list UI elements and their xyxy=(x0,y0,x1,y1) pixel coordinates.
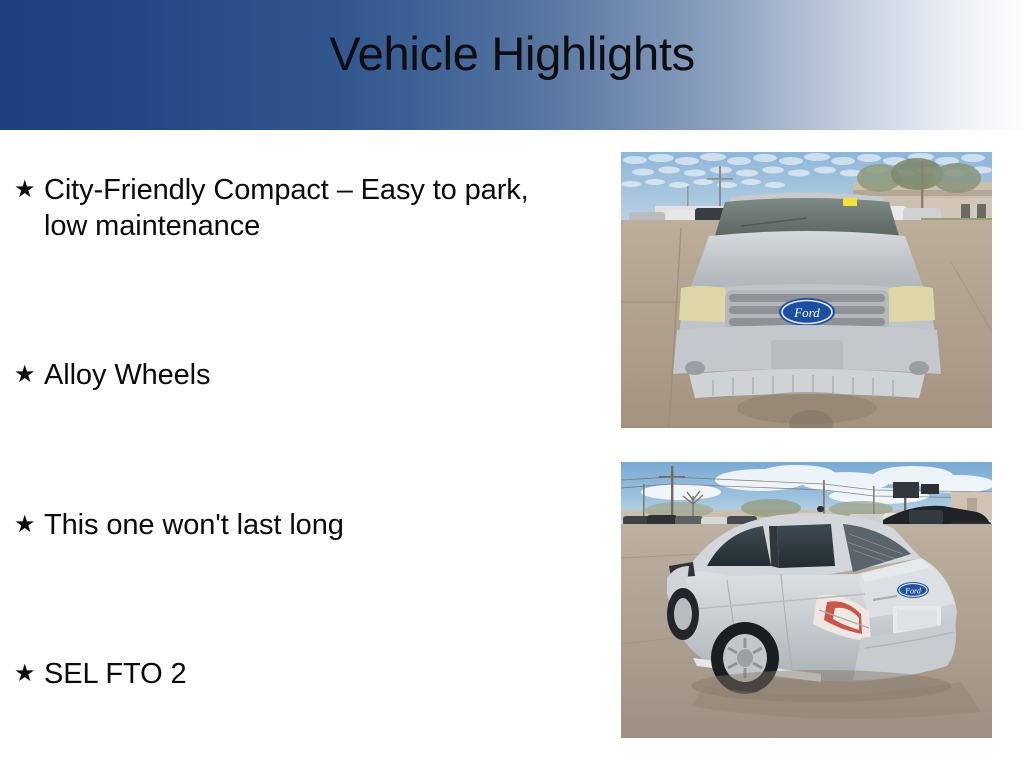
page-title: Vehicle Highlights xyxy=(0,0,1024,130)
vehicle-front-photo[interactable]: Ford xyxy=(621,152,992,428)
list-item[interactable]: ★ This one won't last long xyxy=(14,507,574,543)
list-item[interactable]: ★ Alloy Wheels xyxy=(14,357,574,393)
list-item[interactable]: ★ SEL FTO 2 xyxy=(14,656,574,692)
svg-text:Ford: Ford xyxy=(904,587,922,596)
star-bullet-icon: ★ xyxy=(14,172,44,208)
star-bullet-icon: ★ xyxy=(14,507,44,543)
svg-text:Ford: Ford xyxy=(793,305,820,320)
list-item-label: Alloy Wheels xyxy=(44,357,534,393)
star-bullet-icon: ★ xyxy=(14,357,44,393)
vehicle-rear-photo-graphic: Ford xyxy=(621,462,992,738)
list-item-label: This one won't last long xyxy=(44,507,534,543)
list-item-label: SEL FTO 2 xyxy=(44,656,534,692)
star-bullet-icon: ★ xyxy=(14,656,44,692)
vehicle-rear-photo[interactable]: Ford xyxy=(621,462,992,738)
slide-content: ★ City-Friendly Compact – Easy to park, … xyxy=(0,130,1024,768)
list-item[interactable]: ★ City-Friendly Compact – Easy to park, … xyxy=(14,172,574,244)
slide: Vehicle Highlights ★ City-Friendly Compa… xyxy=(0,0,1024,768)
list-item-label: City-Friendly Compact – Easy to park, lo… xyxy=(44,172,534,244)
vehicle-front-photo-graphic: Ford xyxy=(621,152,992,428)
highlights-list: ★ City-Friendly Compact – Easy to park, … xyxy=(0,130,600,768)
